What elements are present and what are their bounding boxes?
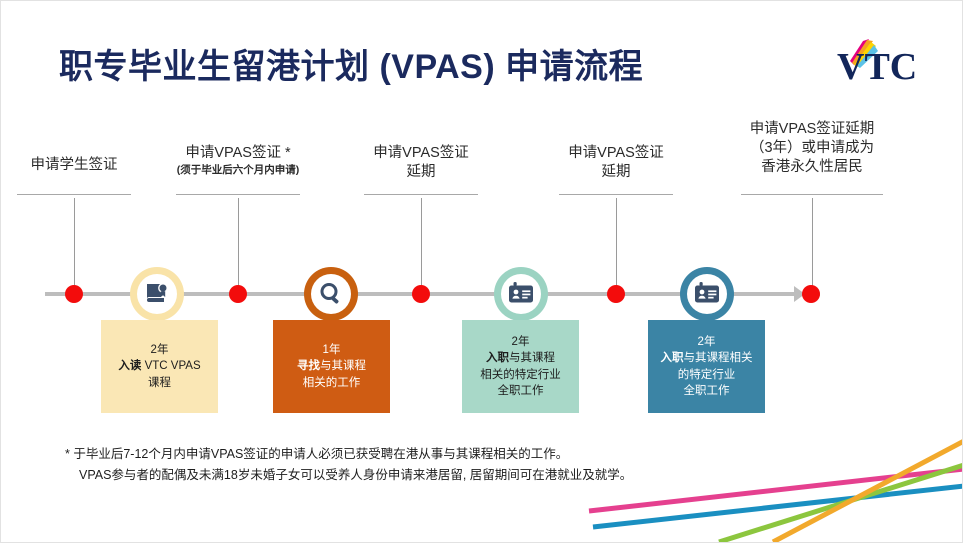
label-line: 申请VPAS签证	[341, 144, 501, 163]
timeline-label-vpas-extend-3yr-or-pr: 申请VPAS签证延期（3年）或申请成为香港永久性居民	[717, 120, 907, 177]
stripe-blue	[593, 486, 963, 527]
phase-box-job-search: 1年寻找与其课程相关的工作	[273, 320, 390, 413]
stripe-orange	[773, 441, 963, 542]
label-underline	[364, 194, 478, 195]
timeline-label-vpas-extend-2: 申请VPAS签证延期	[536, 144, 696, 182]
phase-text-line: 的特定行业	[678, 367, 736, 384]
diploma-icon	[130, 267, 184, 321]
footnote: * 于毕业后7-12个月内申请VPAS签证的申请人必须已获受聘在港从事与其课程相…	[65, 444, 632, 486]
label-underline	[176, 194, 300, 195]
stripe-magenta	[589, 469, 963, 511]
phase-text-line: 相关的特定行业	[480, 367, 561, 384]
label-line: 申请VPAS签证	[536, 144, 696, 163]
label-underline	[559, 194, 673, 195]
label-underline	[17, 194, 131, 195]
label-subtext: (须于毕业后六个月内申请)	[138, 163, 338, 178]
label-line: 延期	[341, 163, 501, 182]
slide-canvas: 职专毕业生留港计划 (VPAS) 申请流程 VTC 申请学生签证申请VPAS签证…	[0, 0, 963, 543]
id-badge-icon	[687, 274, 727, 314]
logo-text: VTC	[837, 46, 917, 88]
milestone-dot-3	[412, 285, 430, 303]
label-line: 申请VPAS签证 *	[138, 144, 338, 163]
phase-text-line: 全职工作	[684, 383, 730, 400]
milestone-dot-1	[65, 285, 83, 303]
label-line: 申请VPAS签证延期	[717, 120, 907, 139]
phase-text-line: 入读 VTC VPAS	[118, 358, 200, 375]
label-line: 申请学生签证	[0, 156, 149, 175]
phase-duration: 2年	[512, 334, 530, 351]
label-stem	[74, 198, 75, 286]
milestone-dot-4	[607, 285, 625, 303]
page-title: 职专毕业生留港计划 (VPAS) 申请流程	[59, 39, 643, 88]
timeline-label-student-visa: 申请学生签证	[0, 156, 149, 175]
employment-badge-icon-1	[494, 267, 548, 321]
label-line: （3年）或申请成为	[717, 139, 907, 158]
timeline-label-vpas-extend-1: 申请VPAS签证延期	[341, 144, 501, 182]
job-search-icon	[304, 267, 358, 321]
phase-duration: 2年	[698, 334, 716, 351]
stripe-green	[719, 465, 963, 542]
phase-text-line: 入职与其课程	[486, 350, 555, 367]
phase-text-line: 全职工作	[498, 383, 544, 400]
timeline-label-vpas-apply: 申请VPAS签证 *(须于毕业后六个月内申请)	[138, 144, 338, 178]
phase-text-line: 入职与其课程相关	[661, 350, 753, 367]
footnote-line-1: * 于毕业后7-12个月内申请VPAS签证的申请人必须已获受聘在港从事与其课程相…	[65, 447, 568, 461]
footnote-line-2: VPAS参与者的配偶及未满18岁未婚子女可以受养人身份申请来港居留, 居留期间可…	[65, 465, 632, 486]
phase-text-line: 寻找与其课程	[297, 358, 366, 375]
vtc-logo: VTC	[833, 39, 929, 91]
id-badge-icon	[501, 274, 541, 314]
phase-text-line: 课程	[148, 375, 171, 392]
label-stem	[421, 198, 422, 286]
phase-box-study: 2年入读 VTC VPAS课程	[101, 320, 218, 413]
label-underline	[741, 194, 883, 195]
label-stem	[812, 198, 813, 286]
phase-box-employment-1: 2年入职与其课程相关的特定行业全职工作	[462, 320, 579, 413]
label-line: 香港永久性居民	[717, 158, 907, 177]
employment-badge-icon-2	[680, 267, 734, 321]
phase-duration: 1年	[323, 342, 341, 359]
phase-box-employment-2: 2年入职与其课程相关的特定行业全职工作	[648, 320, 765, 413]
phase-text-line: 相关的工作	[303, 375, 361, 392]
magnifying-glass-icon	[311, 274, 351, 314]
label-stem	[616, 198, 617, 286]
phase-duration: 2年	[151, 342, 169, 359]
milestone-dot-2	[229, 285, 247, 303]
diploma-certificate-icon	[137, 274, 177, 314]
milestone-dot-5	[802, 285, 820, 303]
label-line: 延期	[536, 163, 696, 182]
label-stem	[238, 198, 239, 286]
